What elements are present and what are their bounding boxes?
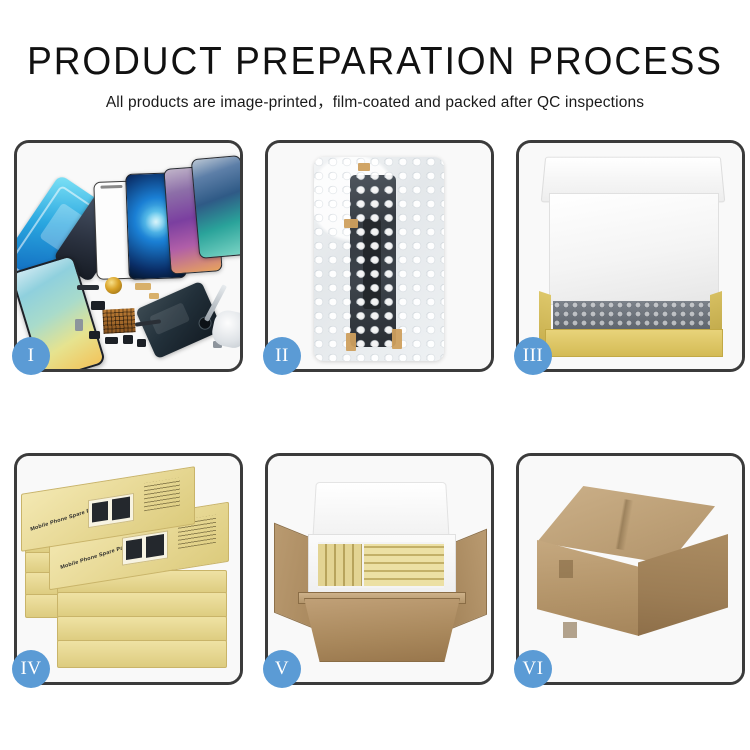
foam-box-contents xyxy=(318,542,444,588)
step-badge-2: II xyxy=(263,337,301,375)
retail-box-side xyxy=(57,616,227,642)
retail-box-side xyxy=(57,592,227,618)
box-window-chip xyxy=(126,539,142,561)
step-badge-5: V xyxy=(263,650,301,688)
tape-piece xyxy=(346,333,356,351)
header: PRODUCT PREPARATION PROCESS All products… xyxy=(0,0,750,113)
step-panel-5: V xyxy=(265,453,494,685)
step-4-illustration: Mobile Phone Spare Parts Mobile Phone Sp… xyxy=(17,456,240,682)
yellow-boxes-upright xyxy=(318,544,362,586)
bubble-wrap-pouch xyxy=(314,157,444,361)
step-panel-6: VI xyxy=(516,453,745,685)
step-1-illustration xyxy=(17,143,240,369)
page-title: PRODUCT PREPARATION PROCESS xyxy=(19,0,732,84)
box-spec-lines xyxy=(144,478,180,512)
grey-bubble-wrap-contents xyxy=(553,301,713,331)
process-step-grid: I II xyxy=(14,140,746,685)
step-badge-1: I xyxy=(12,337,50,375)
white-foam-pad xyxy=(549,193,719,305)
metal-bracket-part xyxy=(75,319,83,331)
step-5-illustration xyxy=(268,456,491,682)
box-window xyxy=(122,530,168,565)
carton-tape-patch xyxy=(563,622,577,638)
step-6-illustration xyxy=(519,456,742,682)
gold-connector-part xyxy=(135,283,151,290)
step-panel-2: II xyxy=(265,140,494,372)
carton-front-panel xyxy=(304,598,460,662)
step-3-illustration xyxy=(519,143,742,369)
step-badge-4: IV xyxy=(12,650,50,688)
box-window-chip xyxy=(92,501,108,523)
flex-cable-part xyxy=(77,285,99,290)
box-window-chip xyxy=(112,497,130,521)
step-panel-1: I xyxy=(14,140,243,372)
carton-tape-patch xyxy=(559,560,573,578)
small-component-part xyxy=(89,331,100,339)
retail-box-side xyxy=(57,640,227,668)
tape-piece xyxy=(392,329,402,349)
product-preparation-infographic: PRODUCT PREPARATION PROCESS All products… xyxy=(0,0,750,750)
step-2-illustration xyxy=(268,143,491,369)
tape-piece xyxy=(358,163,370,171)
step-badge-6: VI xyxy=(514,650,552,688)
step-panel-3: III xyxy=(516,140,745,372)
step-badge-3: III xyxy=(514,337,552,375)
box-window xyxy=(88,493,134,528)
box-front-panel xyxy=(545,329,723,357)
gold-connector-part xyxy=(149,293,159,299)
small-component-part xyxy=(105,337,118,344)
speaker-coil-part xyxy=(105,277,122,294)
step-panel-4: Mobile Phone Spare Parts Mobile Phone Sp… xyxy=(14,453,243,685)
small-component-part xyxy=(123,335,133,344)
bubble-texture xyxy=(314,157,444,361)
tape-piece xyxy=(344,219,358,228)
page-subtitle: All products are image-printed，film-coat… xyxy=(0,84,750,113)
yellow-boxes-flat xyxy=(364,544,444,586)
phone-teal-display xyxy=(191,155,240,259)
box-window-chip xyxy=(146,534,164,558)
retail-box-stack: Mobile Phone Spare Parts Mobile Phone Sp… xyxy=(21,474,240,674)
small-component-part xyxy=(137,339,146,347)
small-component-part xyxy=(91,301,105,310)
logic-board-part xyxy=(102,308,135,334)
retail-box-label: Mobile Phone Spare Parts xyxy=(60,543,131,571)
